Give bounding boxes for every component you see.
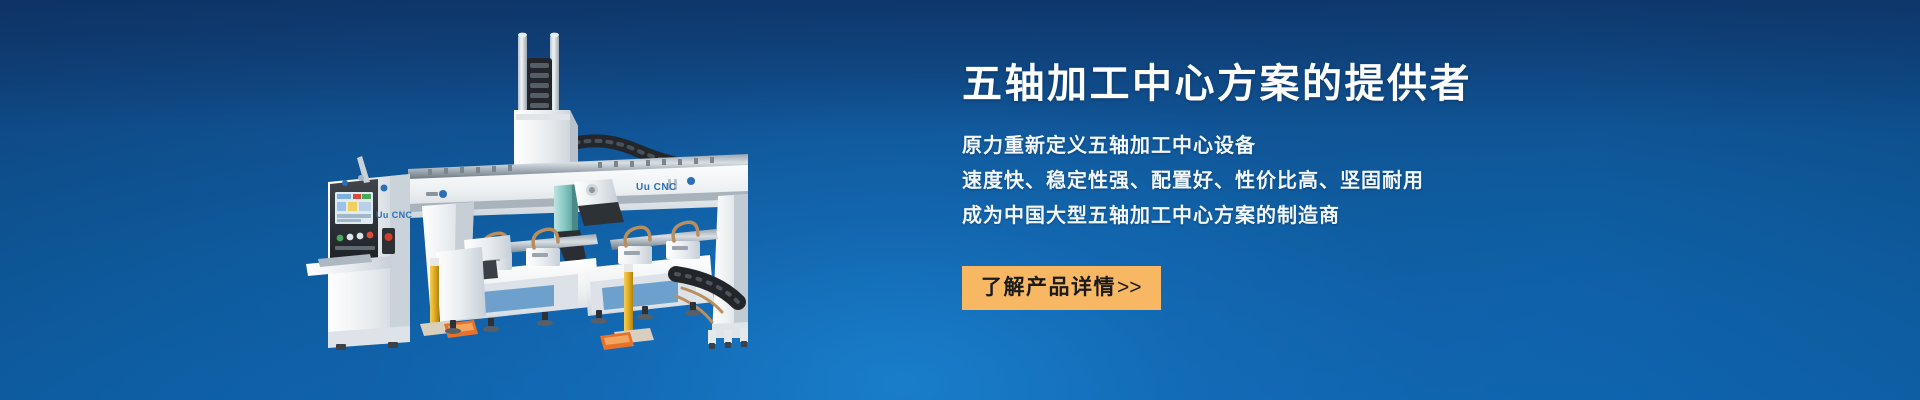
subtitle-list: 原力重新定义五轴加工中心设备 速度快、稳定性强、配置好、性价比高、坚固耐用 成为… bbox=[962, 129, 1702, 234]
subtitle-line-1: 原力重新定义五轴加工中心设备 bbox=[962, 129, 1702, 164]
cabinet-brand-label: Uu CNC bbox=[376, 210, 412, 220]
learn-more-button[interactable]: 了解产品详情>> bbox=[962, 266, 1161, 310]
double-chevron-right-icon: >> bbox=[1117, 276, 1142, 299]
subtitle-line-3: 成为中国大型五轴加工中心方案的制造商 bbox=[962, 199, 1702, 234]
cta-label: 了解产品详情 bbox=[981, 276, 1116, 299]
headline: 五轴加工中心方案的提供者 bbox=[962, 62, 1702, 107]
product-image: Uu CNC bbox=[278, 6, 898, 398]
hero-copy: 五轴加工中心方案的提供者 原力重新定义五轴加工中心设备 速度快、稳定性强、配置好… bbox=[962, 62, 1702, 310]
hero-banner: Uu CNC bbox=[0, 0, 1920, 400]
subtitle-line-2: 速度快、稳定性强、配置好、性价比高、坚固耐用 bbox=[962, 164, 1702, 199]
gantry-brand-label: Uu CNC bbox=[636, 182, 677, 193]
